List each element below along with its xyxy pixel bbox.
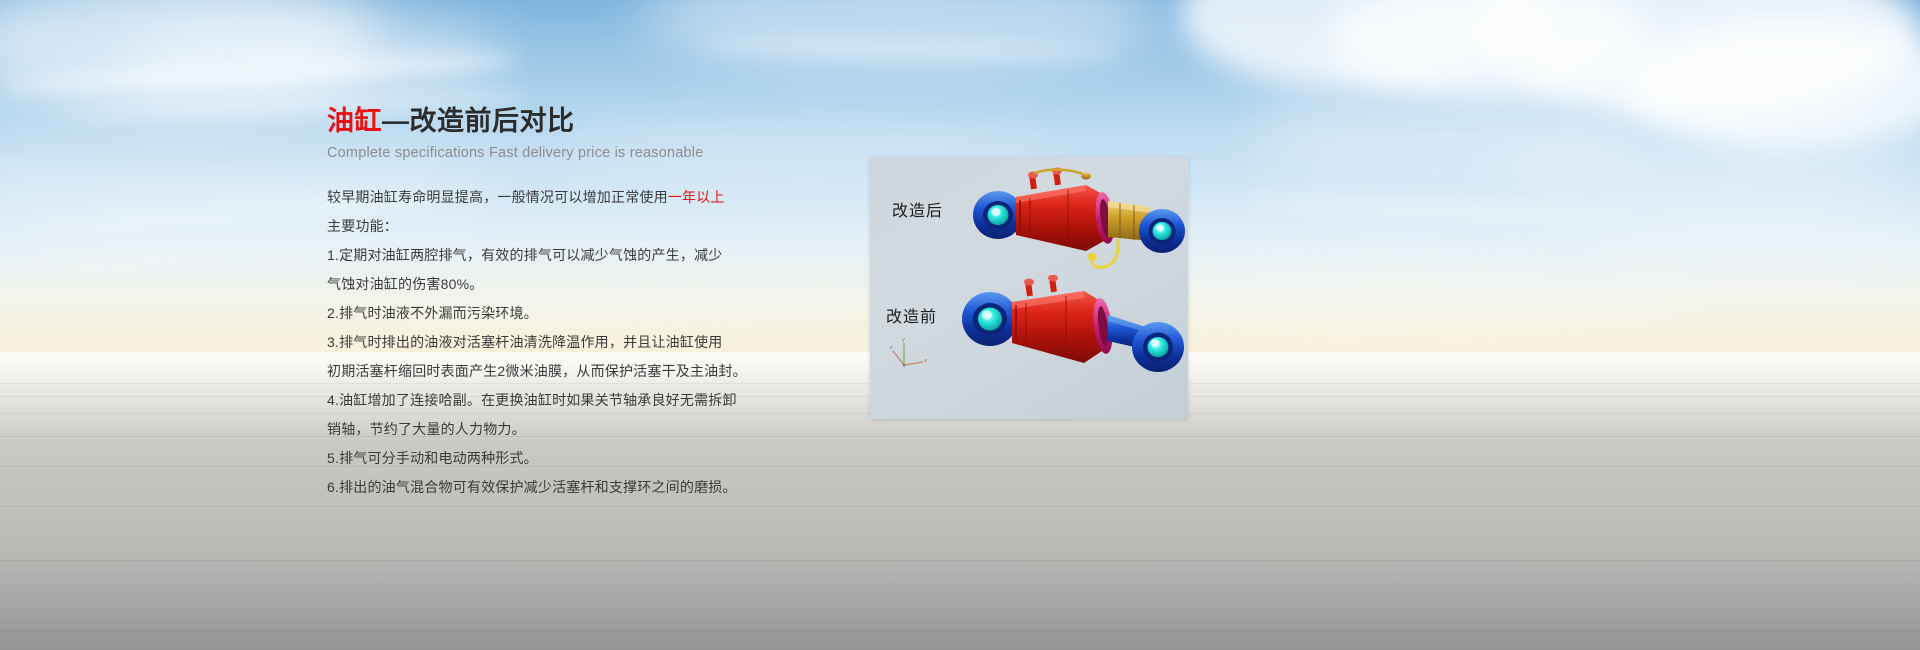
page-title: 油缸—改造前后对比 (327, 104, 847, 138)
cloud-shape (1600, 210, 1920, 260)
body-line-text: 初期活塞杆缩回时表面产生2微米油膜，从而保护活塞干及主油封。 (327, 363, 747, 379)
page-subtitle: Complete specifications Fast delivery pr… (327, 145, 847, 161)
label-before-modification: 改造前 (886, 303, 937, 327)
body-text-block: 较早期油缸寿命明显提高，一般情况可以增加正常使用一年以上 主要功能： 1.定期对… (327, 185, 847, 499)
axis-gizmo-icon: z y x (890, 335, 930, 371)
cylinder-after-render (968, 167, 1186, 287)
body-line-text: 主要功能： (327, 218, 398, 234)
label-after-modification: 改造后 (892, 197, 943, 221)
tile-line-horizontal (0, 436, 1920, 437)
body-line: 2.排气时油液不外漏而污染环境。 (327, 301, 847, 325)
body-line-text: 3.排气时排出的油液对活塞杆油清洗降温作用，并且让油缸使用 (327, 334, 722, 350)
body-line-text: 5.排气可分手动和电动两种形式。 (327, 450, 538, 466)
cloud-shape (1100, 270, 1700, 320)
body-line-text: 4.油缸增加了连接哈副。在更换油缸时如果关节轴承良好无需拆卸 (327, 392, 737, 408)
body-line-text: 6.排出的油气混合物可有效保护减少活塞杆和支撑环之间的磨损。 (327, 479, 737, 495)
tile-line-horizontal (0, 466, 1920, 467)
body-line-accent: 一年以上 (668, 189, 725, 205)
body-line-text: 销轴，节约了大量的人力物力。 (327, 421, 526, 437)
port-stubs (1024, 275, 1058, 296)
body-line-text: 气蚀对油缸的伤害80%。 (327, 276, 483, 292)
body-line: 较早期油缸寿命明显提高，一般情况可以增加正常使用一年以上 (327, 185, 847, 209)
svg-text:y: y (902, 337, 905, 343)
page-title-accent: 油缸 (327, 106, 382, 136)
body-line-text: 1.定期对油缸两腔排气，有效的排气可以减少气蚀的产生，减少 (327, 247, 722, 263)
body-line: 1.定期对油缸两腔排气，有效的排气可以减少气蚀的产生，减少 (327, 243, 847, 267)
banner-stage: 油缸—改造前后对比 Complete specifications Fast d… (0, 0, 1920, 650)
body-line: 初期活塞杆缩回时表面产生2微米油膜，从而保护活塞干及主油封。 (327, 359, 847, 383)
body-line: 4.油缸增加了连接哈副。在更换油缸时如果关节轴承良好无需拆卸 (327, 388, 847, 412)
cylinder-eye-left (973, 191, 1023, 239)
body-line-text: 2.排气时油液不外漏而污染环境。 (327, 305, 538, 321)
svg-text:z: z (890, 345, 893, 351)
svg-text:x: x (924, 358, 927, 364)
body-line: 气蚀对油缸的伤害80%。 (327, 272, 847, 296)
copy-block: 油缸—改造前后对比 Complete specifications Fast d… (327, 104, 847, 504)
page-title-rest: —改造前后对比 (382, 106, 575, 136)
cylinder-eye-left (962, 292, 1018, 346)
cylinder-eye-right (1139, 209, 1185, 253)
tile-line-horizontal (0, 506, 1920, 507)
cylinder-before-render (956, 275, 1186, 403)
body-line-text: 较早期油缸寿命明显提高，一般情况可以增加正常使用 (327, 189, 668, 205)
body-line: 5.排气可分手动和电动两种形式。 (327, 446, 847, 470)
cloud-shape (1500, 130, 1920, 210)
cylinder-eye-right (1132, 322, 1184, 372)
body-line: 主要功能： (327, 214, 847, 238)
comparison-image-panel: 改造后 改造前 (870, 157, 1188, 419)
body-line: 销轴，节约了大量的人力物力。 (327, 417, 847, 441)
body-line: 6.排出的油气混合物可有效保护减少活塞杆和支撑环之间的磨损。 (327, 475, 847, 499)
body-line: 3.排气时排出的油液对活塞杆油清洗降温作用，并且让油缸使用 (327, 330, 847, 354)
ground-vignette (0, 560, 1920, 650)
